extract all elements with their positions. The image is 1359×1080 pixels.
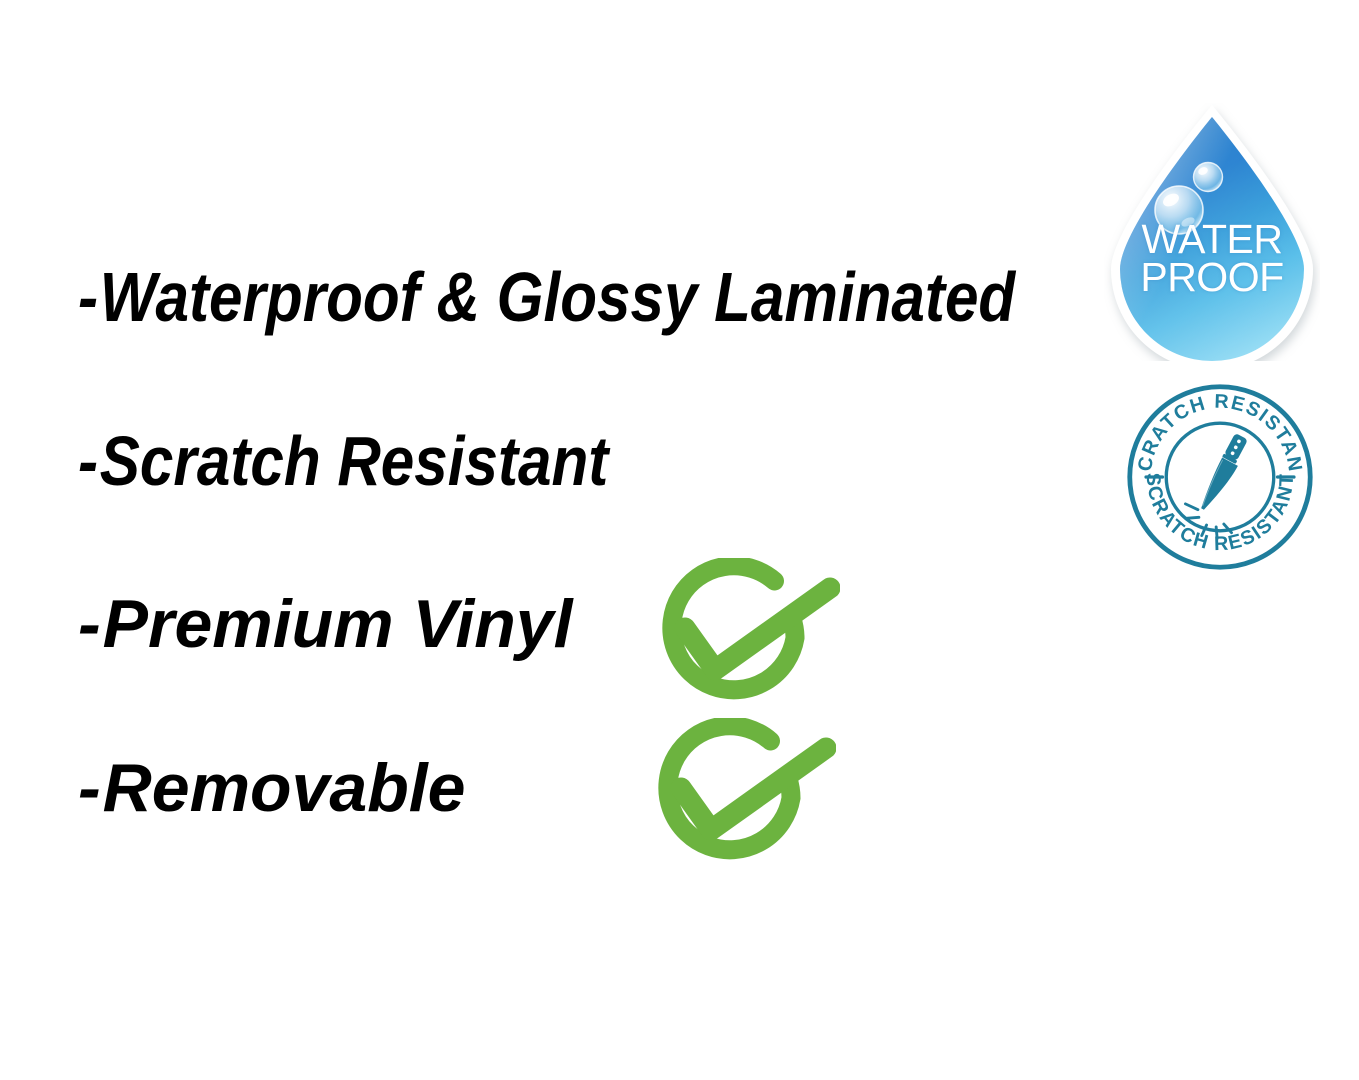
droplet-sheen [1120, 117, 1304, 361]
bullet-dash: - [78, 754, 101, 822]
feature-label: Premium Vinyl [103, 586, 573, 662]
knife-icon [1196, 433, 1251, 514]
feature-item-removable: -Removable [78, 754, 465, 822]
seal-text-top: SCRATCH RESISTANT [1124, 381, 1306, 474]
check-circle-icon [636, 718, 836, 878]
check-stroke [681, 748, 826, 830]
feature-item-scratch-resistant: -Scratch Resistant [78, 426, 608, 496]
checkmark-removable [636, 718, 836, 878]
bullet-dash: - [78, 262, 98, 332]
feature-item-premium-vinyl: -Premium Vinyl [78, 590, 573, 658]
water-drop-icon [1104, 103, 1320, 361]
bullet-dash: - [78, 590, 101, 658]
bullet-dash: - [78, 426, 98, 496]
feature-label: Removable [103, 750, 466, 826]
feature-item-waterproof-glossy-laminated: -Waterproof & Glossy Laminated [78, 262, 1015, 332]
bubble-small-icon [1194, 163, 1223, 192]
page-canvas: -Waterproof & Glossy Laminated -Scratch … [0, 0, 1359, 1080]
checkmark-premium-vinyl [640, 558, 840, 718]
waterproof-badge: WATER PROOF [1104, 103, 1320, 361]
scratch-resistant-badge: SCRATCH RESISTANT SCRATCH RESISTANT [1124, 381, 1316, 573]
bubble-large-icon [1155, 186, 1203, 234]
scratch-resistant-seal-icon: SCRATCH RESISTANT SCRATCH RESISTANT [1124, 381, 1316, 573]
check-circle-icon [640, 558, 840, 718]
check-stroke [685, 588, 830, 670]
feature-label: Waterproof & Glossy Laminated [100, 258, 1015, 336]
feature-label: Scratch Resistant [100, 422, 609, 500]
